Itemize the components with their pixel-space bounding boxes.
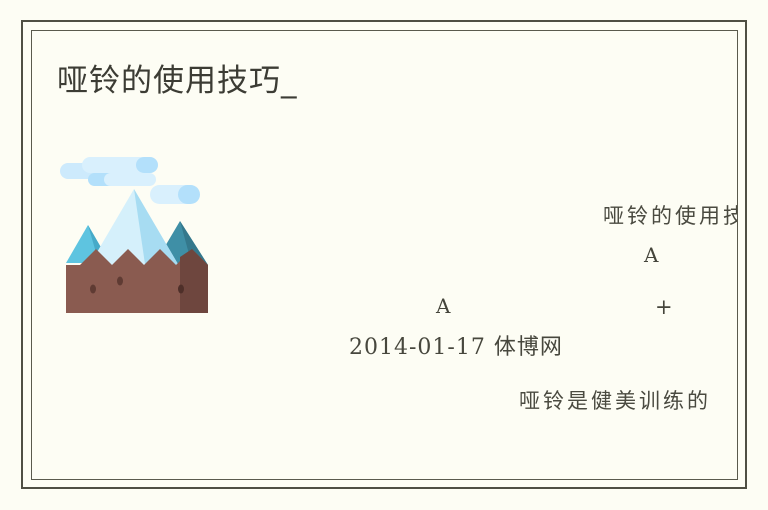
overlay-marker-plus: + — [655, 296, 673, 318]
document-page-frame: 哑铃的使用技巧_ — [21, 20, 747, 489]
overlay-marker-a-left: A — [436, 295, 450, 317]
page-title: 哑铃的使用技巧_ — [57, 61, 298, 101]
overlay-body-text: 哑铃是健美训练的 — [519, 388, 711, 414]
mountain-landscape-icon — [58, 153, 216, 329]
document-inner-frame: 哑铃的使用技巧_ — [31, 30, 738, 480]
overlay-date-source: 2014-01-17 体博网 — [349, 334, 563, 362]
overlay-headline-text: 哑铃的使用技 — [603, 203, 738, 229]
mountain-landscape-svg — [58, 153, 216, 329]
overlay-marker-a-right: A — [644, 244, 658, 266]
